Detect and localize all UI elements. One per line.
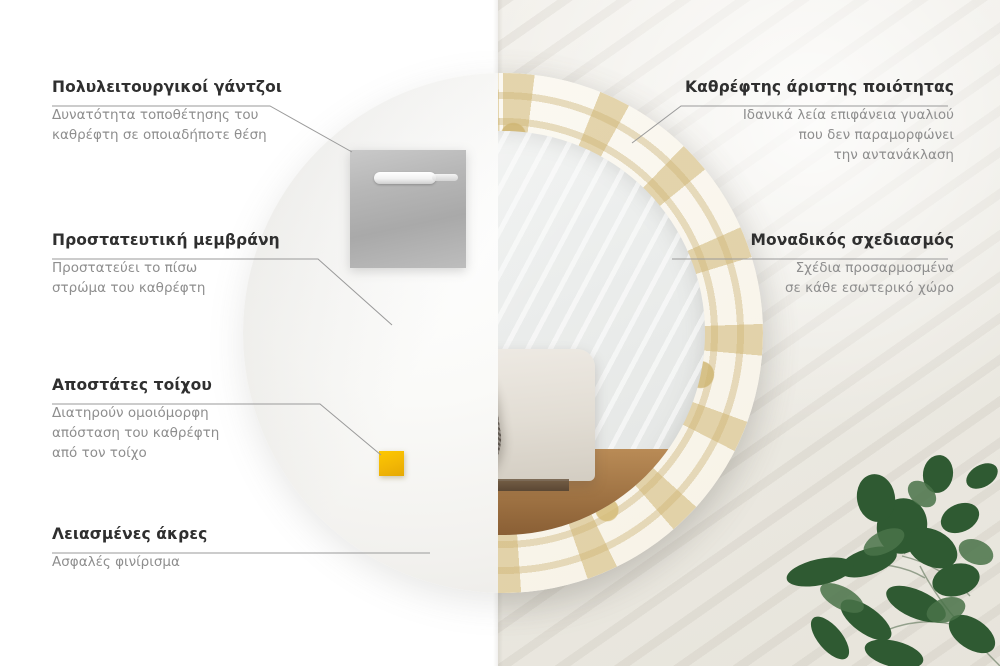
callout-design-body: Σχέδια προσαρμοσμένα σε κάθε εσωτερικό χ… [654, 259, 954, 298]
callout-hooks-title: Πολυλειτουργικοί γάντζοι [52, 78, 302, 97]
callout-hooks: Πολυλειτουργικοί γάντζοι Δυνατότητα τοπο… [52, 78, 302, 146]
callout-spacers-title: Αποστάτες τοίχου [52, 376, 302, 395]
callout-quality-mirror: Καθρέφτης άριστης ποιότητας Ιδανικά λεία… [654, 78, 954, 165]
callout-design-title: Μοναδικός σχεδιασμός [654, 231, 954, 250]
callout-edges: Λειασμένες άκρες Ασφαλές φινίρισμα [52, 525, 302, 573]
callout-membrane: Προστατευτική μεμβράνη Προστατεύει το πί… [52, 231, 302, 299]
callout-edges-body: Ασφαλές φινίρισμα [52, 553, 302, 573]
callout-membrane-body: Προστατεύει το πίσω στρώμα του καθρέφτη [52, 259, 302, 298]
infographic-canvas: Πολυλειτουργικοί γάντζοι Δυνατότητα τοπο… [0, 0, 1000, 666]
callout-quality-mirror-body: Ιδανικά λεία επιφάνεια γυαλιού που δεν π… [654, 106, 954, 165]
callout-membrane-title: Προστατευτική μεμβράνη [52, 231, 302, 250]
callout-spacers-body: Διατηρούν ομοιόμορφη απόσταση του καθρέφ… [52, 404, 302, 463]
callout-spacers: Αποστάτες τοίχου Διατηρούν ομοιόμορφη απ… [52, 376, 302, 463]
callout-hooks-body: Δυνατότητα τοποθέτησης του καθρέφτη σε ο… [52, 106, 302, 145]
callout-design: Μοναδικός σχεδιασμός Σχέδια προσαρμοσμέν… [654, 231, 954, 299]
foliage-decoration [670, 366, 1000, 666]
callout-quality-mirror-title: Καθρέφτης άριστης ποιότητας [654, 78, 954, 97]
callout-edges-title: Λειασμένες άκρες [52, 525, 302, 544]
